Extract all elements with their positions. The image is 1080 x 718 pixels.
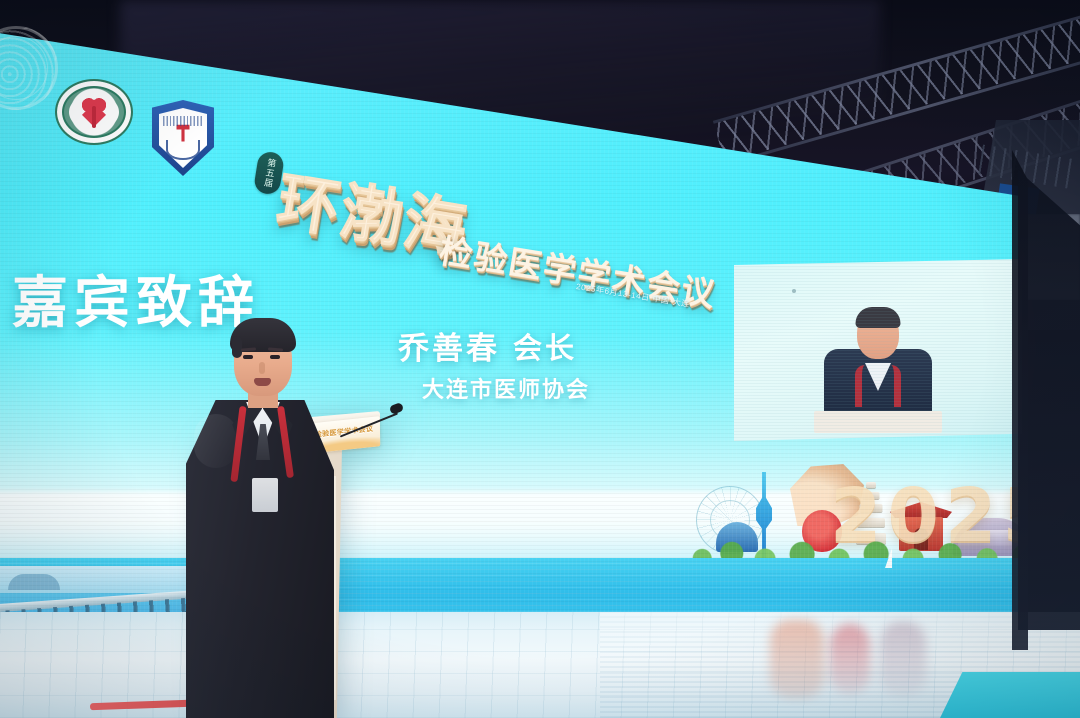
led-wall-right-shadow: [1018, 170, 1080, 630]
green-medical-association-logo: [55, 79, 133, 145]
rod-of-asclepius-icon: [92, 106, 96, 128]
caption-organization: 大连市医师协会: [422, 372, 590, 404]
conference-stage-photo: 2025 第五届 环渤海 检验医学学术会议 2025年6月1: [0, 0, 1080, 718]
laurel-wreath-icon: [166, 140, 200, 160]
speaker-badge: [252, 478, 278, 512]
sailboat-icon: [885, 548, 892, 568]
speaker-hair: [230, 318, 296, 352]
caption-speaker-name: 乔善春: [398, 323, 500, 368]
floor-reflection-figure: [770, 620, 824, 698]
live-video-feed-panel: [734, 259, 1022, 441]
microphone-arm: [340, 412, 398, 437]
microphone: [332, 400, 402, 464]
distant-mountain: [8, 574, 60, 590]
floor-reflection-figure: [880, 622, 926, 696]
speaker-person: [186, 318, 334, 718]
floor-teal-strip: [940, 672, 1080, 718]
speaker-eye: [270, 355, 280, 359]
floor-reflection-figure: [830, 624, 870, 694]
feed-speaker-figure: [822, 307, 934, 431]
feed-artifact-dot: [792, 289, 796, 293]
caption-speaker-position: 会长: [513, 325, 577, 367]
speaker-mouth: [254, 378, 271, 386]
microphone-head-icon: [389, 402, 404, 415]
speaker-eye: [243, 355, 253, 359]
